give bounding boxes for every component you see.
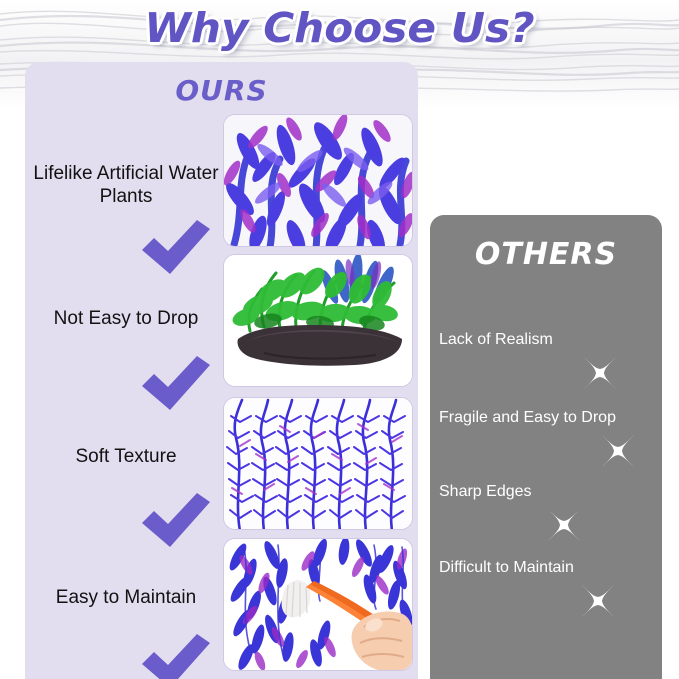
ours-row: Lifelike Artificial Water Plants (25, 112, 418, 252)
cross-icon (542, 503, 586, 547)
cross-icon (578, 351, 622, 395)
others-item-label: Fragile and Easy to Drop (439, 409, 661, 427)
page-title-container: Why Choose Us? (0, 4, 679, 60)
hand-cleaning-plant-with-brush-photo (224, 539, 413, 671)
ours-item-label: Easy to Maintain (33, 586, 219, 609)
others-row: Difficult to Maintain (430, 553, 662, 653)
cross-icon (596, 429, 640, 473)
ours-item-image (223, 114, 413, 247)
check-icon (140, 632, 212, 679)
purple-blue-plant-leaves-photo (224, 115, 413, 247)
ours-row: Not Easy to Drop (25, 252, 418, 392)
ours-heading: OURS (25, 74, 418, 107)
page-title: Why Choose Us? (144, 4, 534, 52)
others-item-label: Difficult to Maintain (439, 559, 661, 577)
ours-row: Soft Texture (25, 395, 418, 535)
others-item-label: Lack of Realism (439, 331, 661, 349)
driftwood-log-with-green-plants-photo (224, 255, 413, 387)
ours-item-image (223, 254, 413, 387)
ours-row: Easy to Maintain (25, 536, 418, 676)
feathery-purple-fronds-photo (224, 398, 413, 530)
ours-item-label: Soft Texture (33, 445, 219, 468)
others-item-label: Sharp Edges (439, 483, 661, 501)
others-panel: OTHERS Lack of Realism Fragile and Easy … (430, 215, 662, 679)
ours-item-label: Lifelike Artificial Water Plants (33, 162, 219, 208)
ours-item-label: Not Easy to Drop (33, 307, 219, 330)
comparison-infographic: Why Choose Us? OURS Lifelike Artificial … (0, 0, 679, 679)
cross-icon (576, 579, 620, 623)
others-heading: OTHERS (430, 237, 662, 272)
ours-item-image (223, 538, 413, 671)
ours-item-image (223, 397, 413, 530)
ours-panel: OURS Lifelike Artificial Water Plants (25, 62, 418, 679)
